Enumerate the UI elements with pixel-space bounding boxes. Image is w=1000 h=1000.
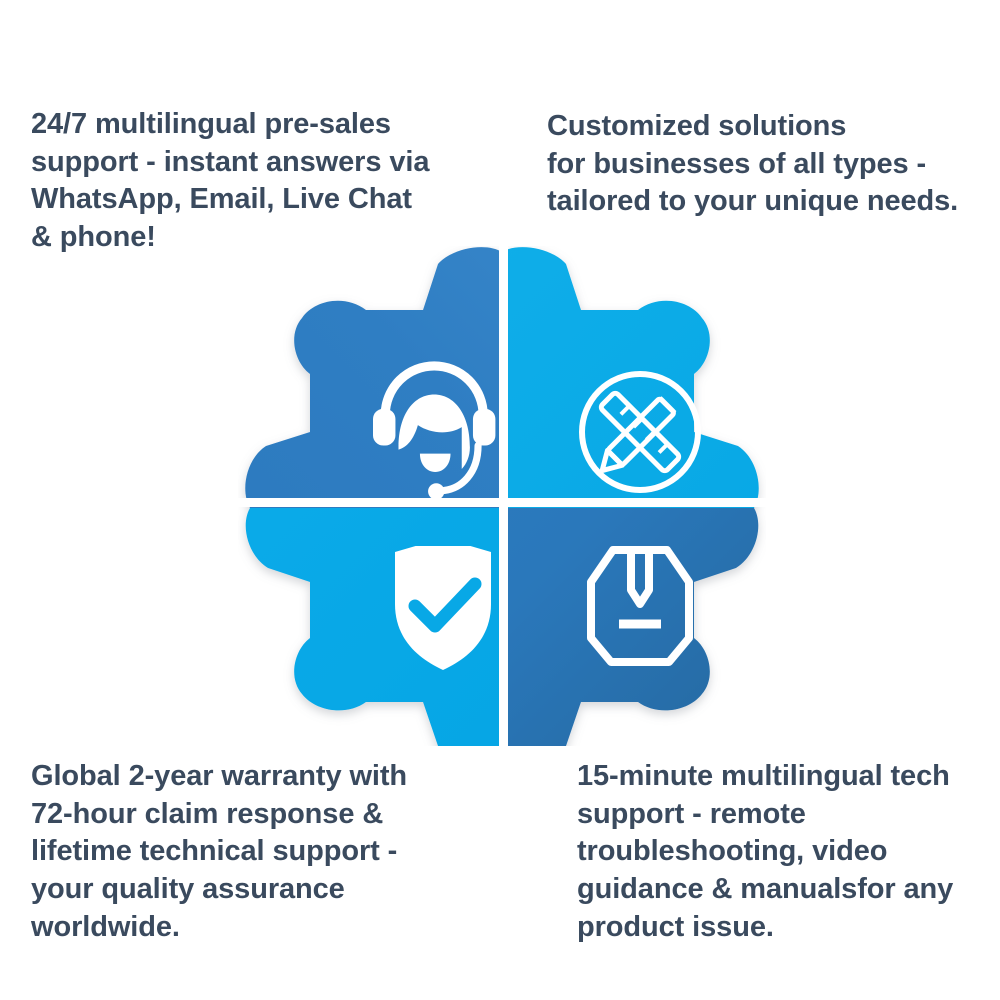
feature-text-warranty-quality-assurance: Global 2-year warranty with 72-hour clai… [31, 758, 483, 946]
feature-text-tech-support: 15-minute multilingual tech support - re… [577, 758, 997, 946]
feature-text-customized-solutions: Customized solutions for businesses of a… [547, 108, 997, 221]
feature-text-presales-support: 24/7 multilingual pre-sales support - in… [31, 106, 483, 257]
shield-check-icon [383, 546, 503, 676]
infographic-canvas: 24/7 multilingual pre-sales support - in… [0, 0, 1000, 1000]
four-quadrant-gear-graphic [238, 246, 766, 746]
